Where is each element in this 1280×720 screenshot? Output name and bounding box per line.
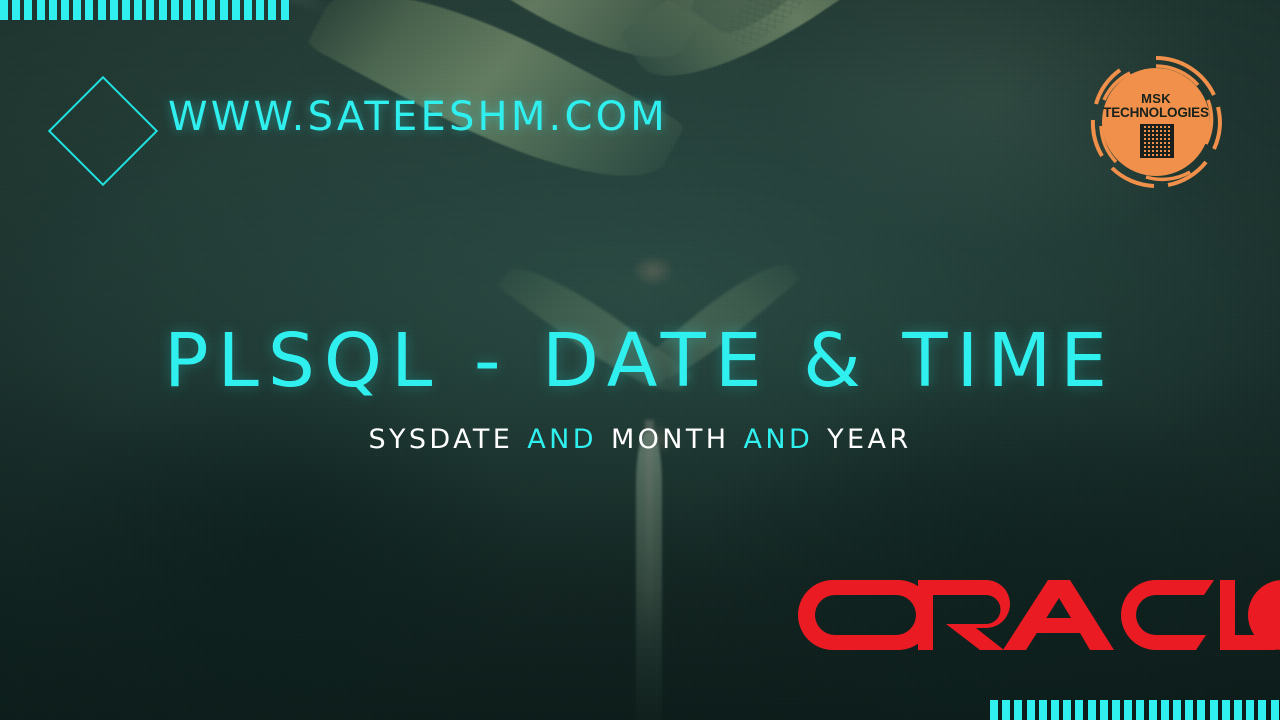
dash-segment [244,0,252,20]
dash-segment [1075,700,1083,720]
dash-segment [1088,700,1096,720]
dash-segment [1112,700,1120,720]
dash-segment [1173,700,1181,720]
dash-segment [110,0,118,20]
dash-segment [1246,700,1254,720]
dash-segment [220,0,228,20]
dash-segment [1210,700,1218,720]
logo-line-2: TECHNOLOGIES [1086,106,1226,120]
dash-segment [171,0,179,20]
subtitle-word: YEAR [827,424,911,455]
dash-segment [1027,700,1035,720]
dash-segment [232,0,240,20]
subtitle-word: MONTH [611,424,730,455]
subtitle-word: SYSDATE [368,424,513,455]
dash-segment [268,0,276,20]
oracle-wordmark [790,572,1280,658]
dash-segment [49,0,57,20]
subtitle-word: AND [527,424,597,455]
dash-segment [24,0,32,20]
dash-segment [122,0,130,20]
dash-segment [159,0,167,20]
dashed-accent-bar-bottom [990,700,1280,720]
dash-segment [1258,700,1266,720]
dash-segment [1100,700,1108,720]
brand-url: WWW.SATEESHM.COM [168,94,668,140]
thumbnail-canvas: WWW.SATEESHM.COM MSK TECHNOLOGIES [0,0,1280,720]
dash-segment [990,700,998,720]
oracle-logo-icon [790,572,1280,658]
dash-segment [1051,700,1059,720]
dash-segment [183,0,191,20]
dash-segment [85,0,93,20]
dash-segment [73,0,81,20]
dash-segment [1063,700,1071,720]
logo-line-1: MSK [1086,92,1226,106]
dash-segment [195,0,203,20]
dash-segment [1136,700,1144,720]
dash-segment [1197,700,1205,720]
dash-segment [12,0,20,20]
dash-segment [37,0,45,20]
dash-segment [1124,700,1132,720]
dash-segment [1234,700,1242,720]
dash-segment [61,0,69,20]
dash-segment [1002,700,1010,720]
dash-segment [98,0,106,20]
dash-segment [281,0,289,20]
dash-segment [1014,700,1022,720]
page-subtitle: SYSDATEANDMONTHANDYEAR [0,424,1280,455]
subtitle-word: AND [743,424,813,455]
dash-segment [146,0,154,20]
dash-segment [0,0,8,20]
dash-segment [1185,700,1193,720]
dash-segment [1039,700,1047,720]
msk-technologies-logo: MSK TECHNOLOGIES [1086,52,1226,192]
dashed-accent-bar-top [0,0,292,20]
dash-segment [1222,700,1230,720]
dash-segment [1149,700,1157,720]
dash-segment [134,0,142,20]
dash-segment [1271,700,1279,720]
dash-segment [207,0,215,20]
page-title: PLSQL - DATE & TIME [0,318,1280,404]
qr-code-icon [1140,124,1174,158]
dash-segment [1161,700,1169,720]
dash-segment [256,0,264,20]
logo-disc [1102,68,1210,176]
